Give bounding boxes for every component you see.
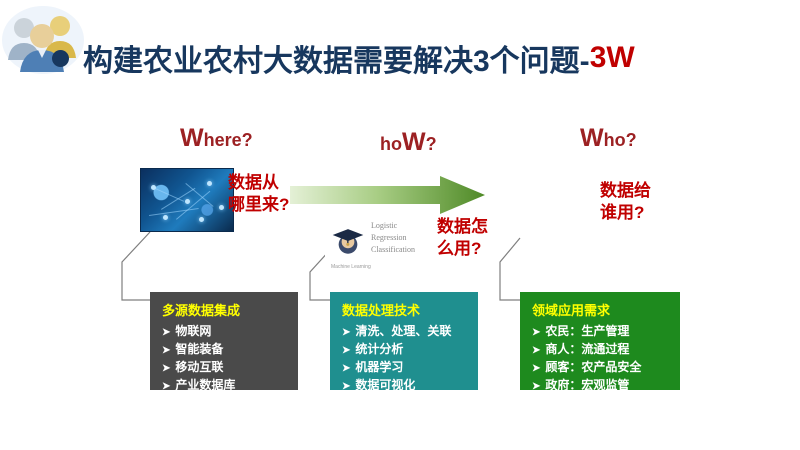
callout-where-line2: 哪里来? xyxy=(228,194,289,216)
panel-2-item-2: ➤统计分析 xyxy=(342,341,468,359)
arrow-bullet-icon: ➤ xyxy=(342,378,350,395)
callout-where-line1: 数据从 xyxy=(228,172,289,194)
panel-1-item-2: ➤智能装备 xyxy=(162,341,288,359)
arrow-bullet-icon: ➤ xyxy=(532,378,540,395)
big-data-network-image xyxy=(140,168,234,232)
label-where-w: W xyxy=(180,124,204,152)
panel-1-item-3: ➤移动互联 xyxy=(162,359,288,377)
green-right-arrow xyxy=(290,176,485,214)
label-how-w: W xyxy=(402,128,426,156)
panel-3-item-1: ➤农民：生产管理 xyxy=(532,323,670,341)
arrow-bullet-icon: ➤ xyxy=(342,360,350,377)
panel-data-processing: 数据处理技术 ➤清洗、处理、关联 ➤统计分析 ➤机器学习 ➤数据可视化 xyxy=(330,292,478,390)
panel-1-title: 多源数据集成 xyxy=(162,300,288,319)
label-how-rest: ? xyxy=(426,134,437,154)
panel-1-item-1: ➤物联网 xyxy=(162,323,288,341)
panel-2-item-1-label: 清洗、处理、关联 xyxy=(355,323,451,340)
label-how: hoW? xyxy=(380,128,437,157)
panel-3-item-4-label: 政府：宏观监管 xyxy=(545,377,629,394)
arrow-bullet-icon: ➤ xyxy=(342,324,350,341)
callout-who-line1: 数据给 xyxy=(600,180,651,202)
panel-3-item-4: ➤政府：宏观监管 xyxy=(532,377,670,395)
panel-3-title: 领域应用需求 xyxy=(532,300,670,319)
panel-data-integration: 多源数据集成 ➤物联网 ➤智能装备 ➤移动互联 ➤产业数据库 xyxy=(150,292,298,390)
arrow-bullet-icon: ➤ xyxy=(162,324,170,341)
label-where: Where? xyxy=(180,124,253,153)
panel-1-item-4-label: 产业数据库 xyxy=(175,377,235,394)
panel-1-item-3-label: 移动互联 xyxy=(175,359,223,376)
graduation-cap-icon xyxy=(331,224,365,258)
panel-2-item-2-label: 统计分析 xyxy=(355,341,403,358)
callout-who-line2: 谁用? xyxy=(600,202,651,224)
panel-2-item-3-label: 机器学习 xyxy=(355,359,403,376)
panel-1-item-1-label: 物联网 xyxy=(175,323,211,340)
panel-3-item-3: ➤顾客：农产品安全 xyxy=(532,359,670,377)
panel-2-item-4: ➤数据可视化 xyxy=(342,377,468,395)
panel-3-item-2-label: 商人：流通过程 xyxy=(545,341,629,358)
machine-learning-image: Logistic Regression Classification Machi… xyxy=(325,212,455,278)
arrow-bullet-icon: ➤ xyxy=(162,378,170,395)
arrow-bullet-icon: ➤ xyxy=(532,342,540,359)
title-main-text: 构建农业农村大数据需要解决3个问题- xyxy=(83,36,590,80)
panel-2-item-3: ➤机器学习 xyxy=(342,359,468,377)
panel-2-item-1: ➤清洗、处理、关联 xyxy=(342,323,468,341)
ml-term-3: Classification xyxy=(371,244,415,256)
arrow-bullet-icon: ➤ xyxy=(162,342,170,359)
arrow-bullet-icon: ➤ xyxy=(532,360,540,377)
panel-1-item-4: ➤产业数据库 xyxy=(162,377,288,395)
callout-who: 数据给 谁用? xyxy=(600,180,651,224)
label-who-rest: ho? xyxy=(604,130,637,150)
panel-3-item-2: ➤商人：流通过程 xyxy=(532,341,670,359)
panel-domain-application: 领域应用需求 ➤农民：生产管理 ➤商人：流通过程 ➤顾客：农产品安全 ➤政府：宏… xyxy=(520,292,680,390)
callout-how-line1: 数据怎 xyxy=(437,216,488,238)
ml-terms-text: Logistic Regression Classification xyxy=(371,220,415,256)
panel-2-item-4-label: 数据可视化 xyxy=(355,377,415,394)
label-how-pre: ho xyxy=(380,134,402,154)
slide-canvas: 构建农业农村大数据需要解决3个问题- 3W Where? hoW? Who? xyxy=(0,0,800,450)
panel-3-item-3-label: 顾客：农产品安全 xyxy=(545,359,641,376)
ml-term-2: Regression xyxy=(371,232,415,244)
label-who: Who? xyxy=(580,124,637,153)
panel-1-item-2-label: 智能装备 xyxy=(175,341,223,358)
ml-term-1: Logistic xyxy=(371,220,415,232)
title-accent-text: 3W xyxy=(590,41,635,75)
callout-how: 数据怎 么用? xyxy=(437,216,488,260)
callout-how-line2: 么用? xyxy=(437,238,488,260)
callout-where: 数据从 哪里来? xyxy=(228,172,289,216)
panel-2-title: 数据处理技术 xyxy=(342,300,468,319)
arrow-bullet-icon: ➤ xyxy=(162,360,170,377)
bullet-dot-icon xyxy=(52,50,69,67)
arrow-bullet-icon: ➤ xyxy=(532,324,540,341)
panel-3-item-1-label: 农民：生产管理 xyxy=(545,323,629,340)
label-where-rest: here? xyxy=(204,130,253,150)
arrow-bullet-icon: ➤ xyxy=(342,342,350,359)
ml-caption-text: Machine Learning xyxy=(331,264,371,270)
page-title: 构建农业农村大数据需要解决3个问题- 3W xyxy=(52,36,635,80)
label-who-w: W xyxy=(580,124,604,152)
